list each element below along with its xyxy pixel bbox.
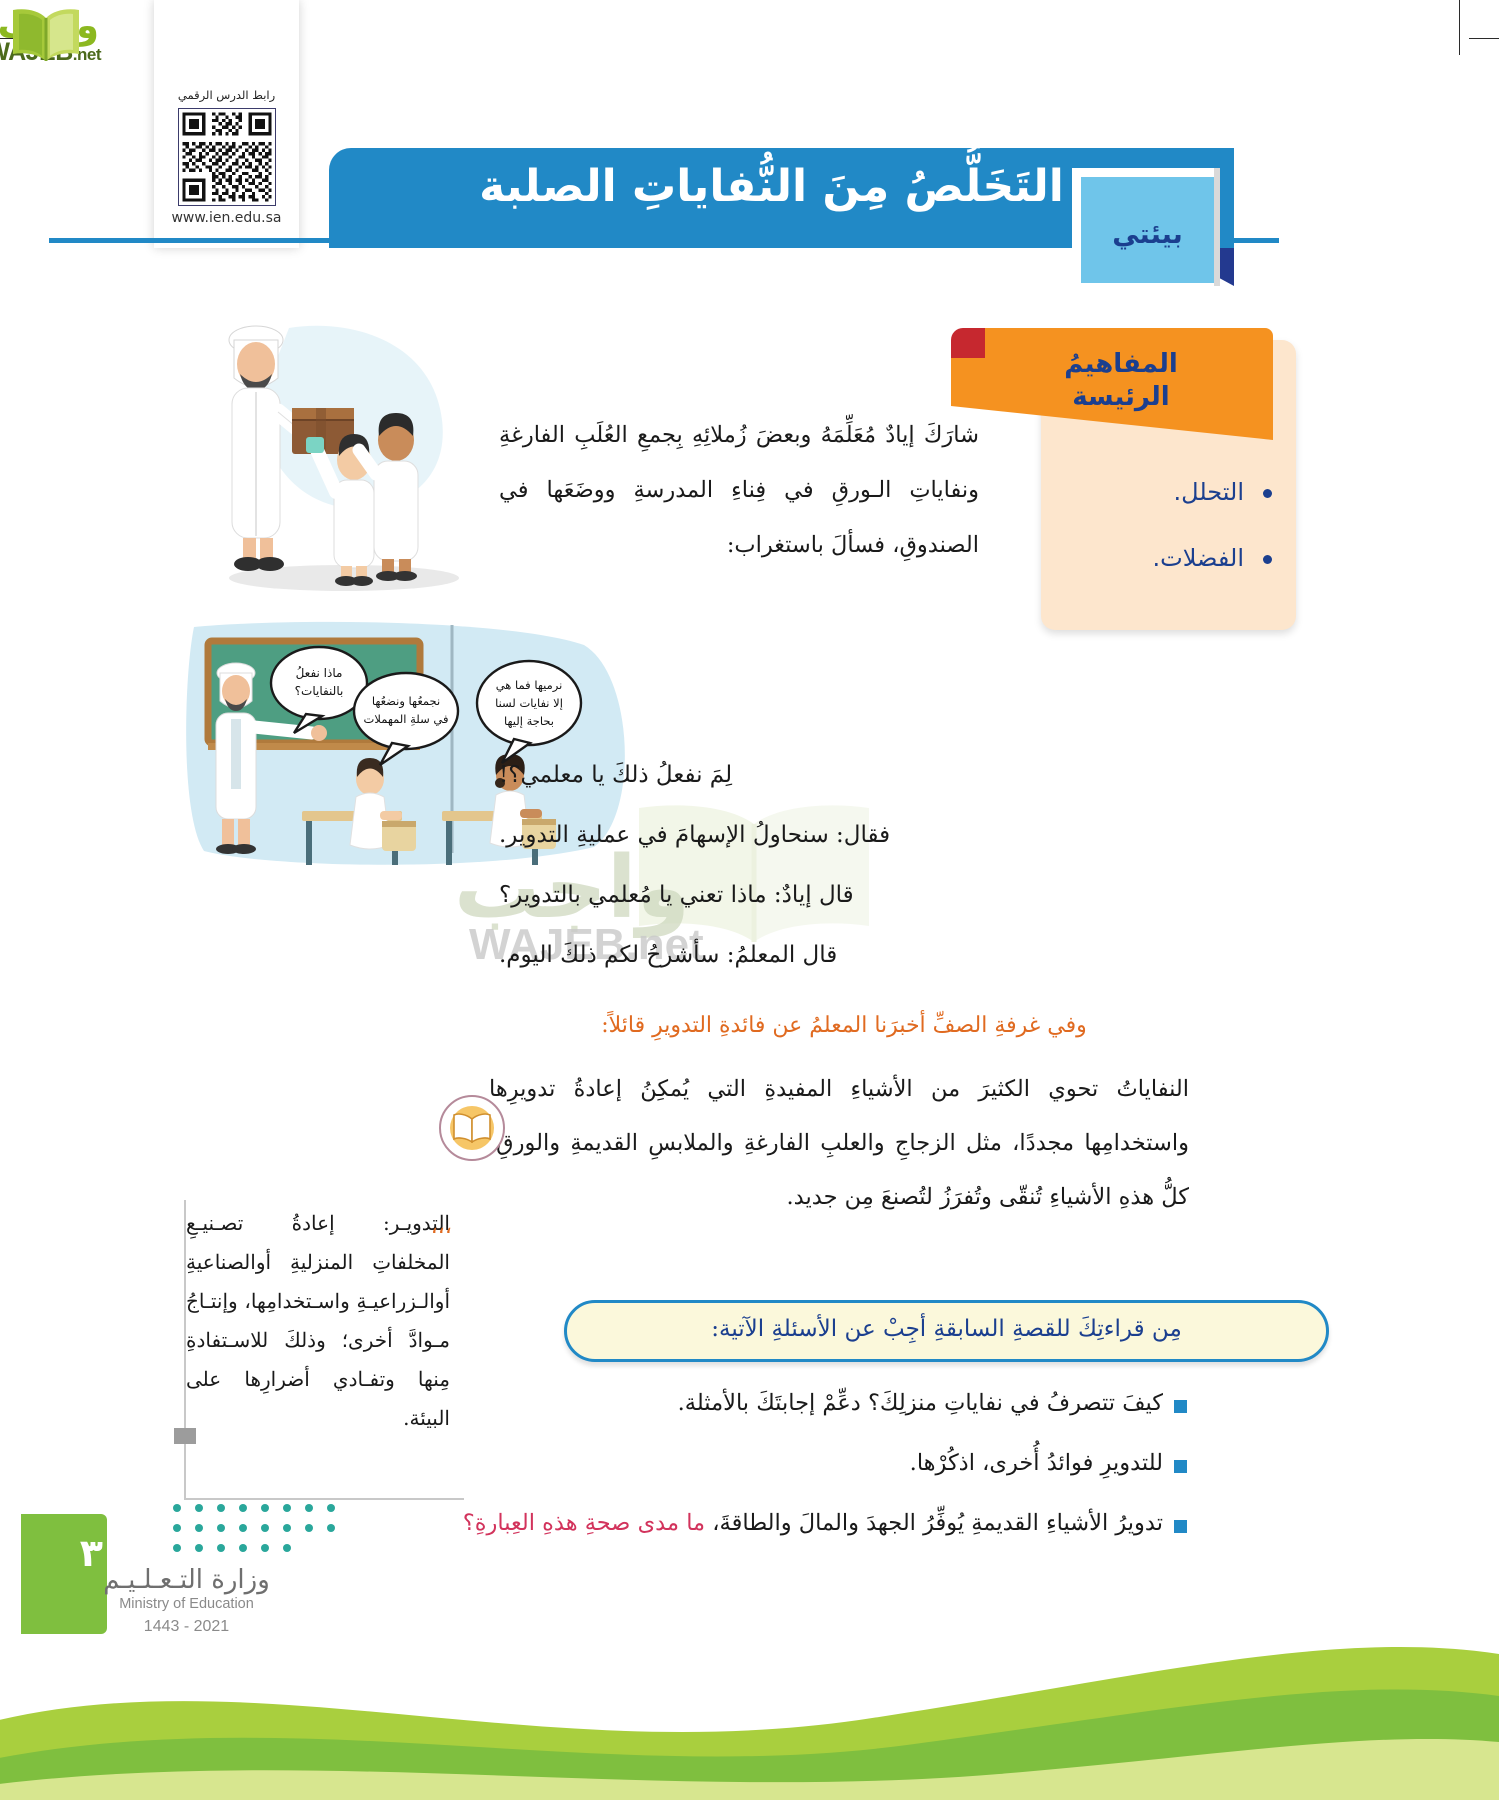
svg-text:بحاجة إليها: بحاجة إليها (505, 714, 555, 728)
side-tab-label: بيئتي (1082, 219, 1215, 250)
unit-side-tab[interactable]: بيئتي (1073, 168, 1215, 283)
key-concepts-title: المفاهيمُ الرئيسة (972, 348, 1272, 413)
qr-code-svg (180, 109, 276, 205)
svg-text:نرميها فما هي: نرميها فما هي (497, 678, 564, 693)
teacher-narration-line: وفي غرفةِ الصفِّ أخبرَنا المعلمُ عن فائد… (500, 1013, 1190, 1038)
qr-card-label: رابط الدرس الرقمي (155, 88, 300, 102)
svg-text:نجمعُها ونضعُها: نجمعُها ونضعُها (373, 694, 441, 709)
list-item: الفضلات. (1060, 544, 1279, 572)
definition-quote-mark: ،،، (432, 1206, 453, 1249)
teacher-students-recycling-illustration (195, 300, 495, 600)
dialogue-line: لِمَ نفعلُ ذلكَ يا معلمي؟! (500, 748, 1190, 802)
qr-card-url[interactable]: www.ien.edu.sa (155, 210, 300, 226)
definition-book-badge-icon (440, 1095, 506, 1161)
questions-intro-text: مِن قراءتِكَ للقصةِ السابقةِ أجِبْ عن ال… (568, 1316, 1327, 1342)
ministry-english-name: Ministry of Education (80, 1596, 295, 1612)
qr-code-icon[interactable] (179, 108, 277, 206)
edition-year: 2021 - 1443 (80, 1618, 295, 1636)
open-book-glyph-icon (453, 1113, 493, 1143)
question-item: للتدويرِ فوائدُ أُخرى، اذكُرْها. (160, 1450, 1190, 1476)
crop-mark-top-right-h (1470, 38, 1500, 39)
key-concepts-card: المفاهيمُ الرئيسة التحلل. الفضلات. (1042, 340, 1297, 630)
questions-intro-banner: مِن قراءتِكَ للقصةِ السابقةِ أجِبْ عن ال… (565, 1300, 1330, 1362)
digital-lesson-qr-card[interactable]: رابط الدرس الرقمي (155, 0, 300, 248)
list-item: التحلل. (1060, 478, 1279, 506)
question-item-text: تدويرُ الأشياءِ القديمةِ يُوفِّرُ الجهدَ… (464, 1510, 1164, 1536)
key-concepts-title-line1: المفاهيمُ (972, 348, 1272, 381)
crop-mark-top-right-v (1460, 0, 1461, 55)
svg-text:بالنفايات؟: بالنفايات؟ (296, 684, 345, 698)
ministry-arabic-name: وزارة التـعـلـيـم (80, 1565, 295, 1595)
svg-text:ماذا نفعلُ: ماذا نفعلُ (297, 665, 344, 680)
question-item: كيفَ تتصرفُ في نفاياتِ منزلِكَ؟ دعِّمْ إ… (160, 1390, 1190, 1416)
intro-paragraph: شارَكَ إيادٌ مُعَلِّمَهُ وبعضَ زُملائِهِ… (500, 408, 980, 573)
side-tab-shadow (1215, 168, 1221, 286)
dialogue-line: فقال: سنحاولُ الإسهامَ في عمليةِ التدوير… (500, 808, 1190, 862)
svg-text:في سلةِ المهملات: في سلةِ المهملات (365, 712, 450, 726)
body-paragraph: النفاياتُ تحوي الكثيرَ من الأشياءِ المفي… (490, 1062, 1190, 1224)
key-concepts-title-line2: الرئيسة (972, 381, 1272, 414)
decorative-dots-pattern (170, 1500, 350, 1562)
open-book-icon (6, 6, 88, 64)
dialogue-block: لِمَ نفعلُ ذلكَ يا معلمي؟! فقال: سنحاولُ… (500, 748, 1190, 988)
svg-text:إلا نفايات لسنا: إلا نفايات لسنا (496, 696, 564, 710)
key-concepts-list: التحلل. الفضلات. (1060, 478, 1279, 610)
page-title: التَخَلُّصُ مِنَ النُّفاياتِ الصلبة (370, 161, 1175, 212)
dialogue-line: قال إيادٌ: ماذا تعني يا مُعلمي بالتدوير؟ (500, 868, 1190, 922)
dialogue-line: قال المعلمُ: سأشرحُ لكم ذلكَ اليوم. (500, 928, 1190, 982)
ministry-of-education-logo: وزارة التـعـلـيـم Ministry of Education … (80, 1565, 295, 1636)
